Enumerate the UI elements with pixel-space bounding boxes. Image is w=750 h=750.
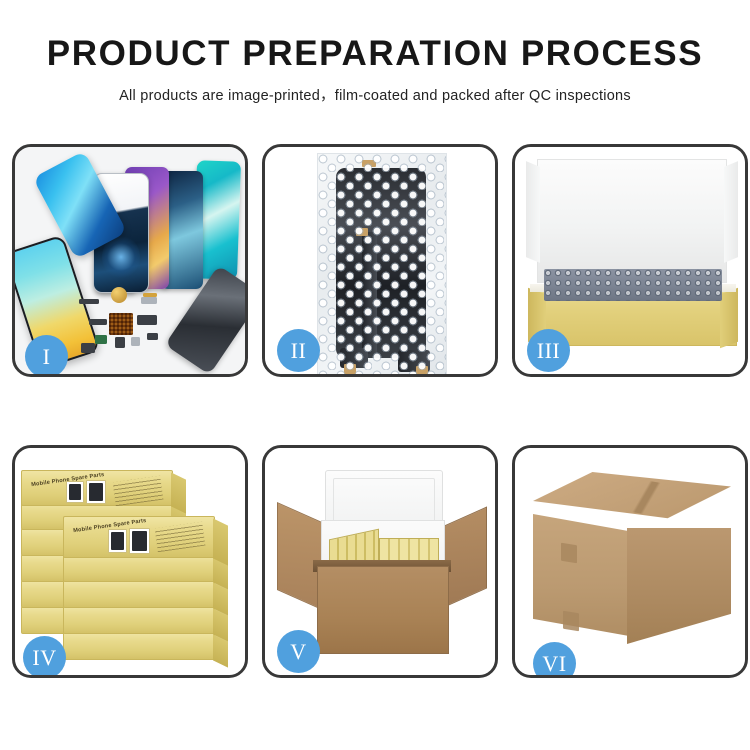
step-badge-4: IV <box>23 636 66 675</box>
bubble-texture-icon <box>318 154 446 374</box>
step-6-image: VI <box>515 448 745 675</box>
step-panel-2[interactable]: II <box>262 144 498 377</box>
process-steps-grid: I II <box>12 144 748 678</box>
step-badge-1: I <box>25 335 68 374</box>
carton-tab-top-icon <box>561 543 577 564</box>
box-window-left-2 <box>108 529 127 553</box>
step-panel-5[interactable]: V <box>262 445 498 678</box>
vibrator-icon <box>115 337 125 348</box>
step-1-image: I <box>15 147 245 374</box>
carton-tab-bottom-icon <box>563 611 579 632</box>
page-header: PRODUCT PREPARATION PROCESS All products… <box>0 0 750 105</box>
box-spec-lines-1 <box>113 476 164 506</box>
sealed-carton-icon <box>533 472 731 650</box>
page-subtitle: All products are image-printed，film-coat… <box>0 84 750 105</box>
page-title: PRODUCT PREPARATION PROCESS <box>0 36 750 71</box>
speaker-coil-icon <box>111 287 127 303</box>
camera-module-icon <box>137 315 157 325</box>
retail-box-row-1: Mobile Phone Spare Parts <box>21 470 173 506</box>
step-badge-2: II <box>277 329 320 372</box>
bubble-wrapped-contents-icon <box>544 269 722 301</box>
step-badge-3: III <box>527 329 570 372</box>
step-badge-5: V <box>277 630 320 673</box>
logic-board-icon <box>109 313 133 335</box>
retail-box-front-row-1: Mobile Phone Spare Parts <box>63 516 215 558</box>
step-panel-1[interactable]: I <box>12 144 248 377</box>
step-panel-4[interactable]: Mobile Phone Spare Parts Mobile Phone Sp… <box>12 445 248 678</box>
step-panel-6[interactable]: VI <box>512 445 748 678</box>
connector-icon <box>147 333 158 340</box>
bubble-wrap-bag-icon <box>317 153 447 374</box>
step-3-image: III <box>515 147 745 374</box>
step-4-image: Mobile Phone Spare Parts Mobile Phone Sp… <box>15 448 245 675</box>
retail-box-front-row-2 <box>63 554 215 582</box>
step-5-image: V <box>265 448 495 675</box>
carton-left-face-icon <box>533 514 629 636</box>
carton-front-panel-icon <box>317 566 449 654</box>
part-bracket-icon <box>141 297 157 304</box>
flex-cable-icon <box>89 319 107 325</box>
box-window-left-1 <box>66 481 84 503</box>
retail-box-front-row-4 <box>63 606 215 634</box>
pcb-chip-icon <box>95 335 107 344</box>
box-window-right-1 <box>86 480 106 504</box>
step-panel-3[interactable]: III <box>512 144 748 377</box>
carton-right-face-icon <box>627 528 731 644</box>
retail-box-front-row-5 <box>63 632 215 660</box>
step-2-image: II <box>265 147 495 374</box>
retail-box-front-row-3 <box>63 580 215 608</box>
part-strip-1-icon <box>79 299 99 304</box>
box-flap-right-icon <box>720 288 738 349</box>
box-window-right-2 <box>129 528 150 554</box>
box-spec-lines-2 <box>155 522 206 552</box>
screw-set-icon <box>131 337 140 346</box>
mailer-box-lid-icon <box>537 159 727 283</box>
sim-tray-icon <box>81 343 95 353</box>
retail-box-stack-icon: Mobile Phone Spare Parts Mobile Phone Sp… <box>21 464 243 664</box>
gold-contact-icon <box>143 293 157 297</box>
